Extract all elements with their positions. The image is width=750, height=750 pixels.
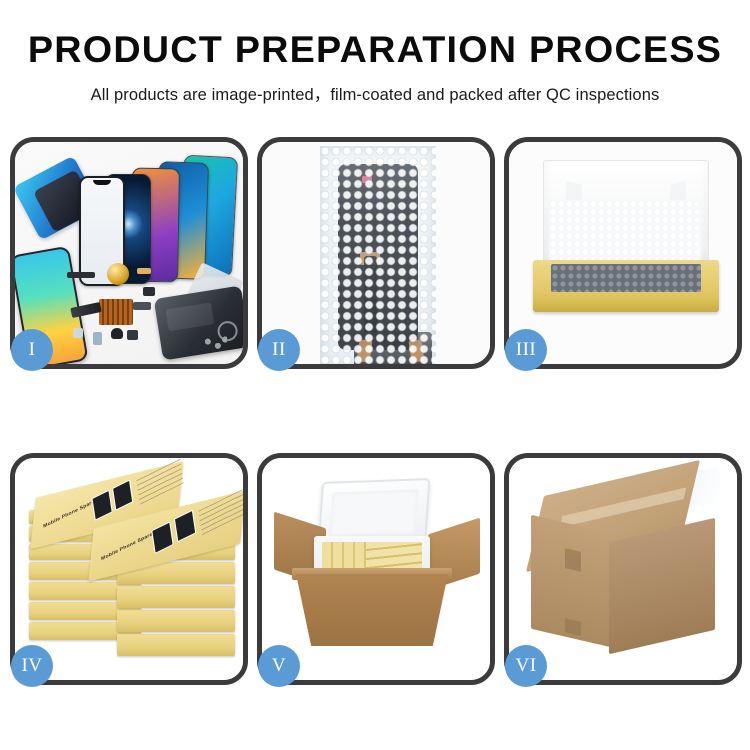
process-step-6[interactable]: VI xyxy=(504,453,742,685)
step-badge-6: VI xyxy=(505,645,547,687)
carton-body-icon xyxy=(296,574,448,646)
box-thumbnail-front-2 xyxy=(174,510,196,543)
yellow-box-tray-icon xyxy=(533,260,719,312)
front-box-3 xyxy=(117,586,235,608)
box-thumbnail-rear-1 xyxy=(91,490,112,521)
box-spec-lines-rear xyxy=(136,459,183,505)
tray-front-lip-icon xyxy=(533,296,719,312)
front-box-5 xyxy=(117,634,235,656)
page-title: PRODUCT PREPARATION PROCESS xyxy=(0,31,750,68)
process-step-3[interactable]: III xyxy=(504,137,742,369)
small-part-7-icon xyxy=(73,328,83,338)
step-badge-4: IV xyxy=(11,645,53,687)
small-part-1-icon xyxy=(137,268,151,274)
process-step-grid: I II xyxy=(10,137,740,685)
front-box-4 xyxy=(117,610,235,632)
small-part-6-icon xyxy=(127,330,138,340)
step-4-image: Mobile Phone Spare Parts Mobile Phone Sp… xyxy=(15,458,243,680)
small-part-4-icon xyxy=(111,328,123,339)
box-spec-lines-front xyxy=(198,489,243,535)
process-step-2[interactable]: II xyxy=(257,137,495,369)
step-badge-3: III xyxy=(505,329,547,371)
step-3-image xyxy=(509,142,737,364)
infographic-page: PRODUCT PREPARATION PROCESS All products… xyxy=(0,0,750,750)
carton-tab-upper-icon xyxy=(565,548,581,572)
phone-chassis-icon xyxy=(154,285,243,360)
small-part-2-icon xyxy=(143,287,155,296)
bubble-wrapped-content-icon xyxy=(551,264,701,292)
page-subtitle: All products are image-printed，film-coat… xyxy=(0,81,750,105)
bubble-wrap-bag-icon xyxy=(320,146,436,364)
carton-right-face-icon xyxy=(609,518,715,654)
small-part-5-icon xyxy=(93,332,102,345)
step-2-image xyxy=(262,142,490,364)
process-step-4[interactable]: Mobile Phone Spare Parts Mobile Phone Sp… xyxy=(10,453,248,685)
earpiece-bar-part-icon xyxy=(67,272,95,278)
phone-notch-icon xyxy=(93,180,111,185)
step-6-image xyxy=(509,458,737,680)
box-thumbnail-rear-2 xyxy=(112,479,133,510)
small-part-3-icon xyxy=(133,302,151,310)
step-badge-5: V xyxy=(258,645,300,687)
step-badge-1: I xyxy=(11,329,53,371)
process-step-5[interactable]: V xyxy=(257,453,495,685)
step-1-image xyxy=(15,142,243,364)
phone-screen-fan xyxy=(77,154,243,284)
speaker-part-icon xyxy=(107,263,129,285)
step-5-image xyxy=(262,458,490,680)
box-stack: Mobile Phone Spare Parts Mobile Phone Sp… xyxy=(29,476,237,676)
screws-icon xyxy=(203,336,227,350)
box-thumbnail-front-1 xyxy=(151,521,173,554)
process-step-1[interactable]: I xyxy=(10,137,248,369)
header: PRODUCT PREPARATION PROCESS All products… xyxy=(0,0,750,105)
step-badge-2: II xyxy=(258,329,300,371)
bubble-texture-icon xyxy=(320,146,436,364)
copper-grid-part-icon xyxy=(99,299,133,325)
